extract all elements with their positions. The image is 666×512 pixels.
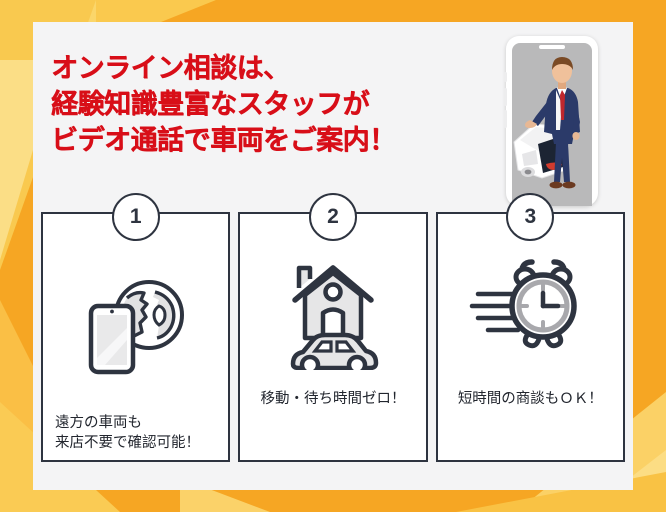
phone-screen [512,43,592,206]
card-spacer [240,416,425,460]
phone-button [504,72,507,82]
feature-card-2[interactable]: 2 [238,212,427,462]
card-caption-line: 来店不要で確認可能！ [55,433,218,454]
card-caption: 短時間の商談もＯＫ！ [438,389,623,416]
phone-notch [539,45,565,49]
card-number-badge: 3 [506,193,554,241]
page-title: オンライン相談は、 経験知識豊富なスタッフが ビデオ通話で車両をご案内！ [51,50,521,159]
phone-button [504,88,507,106]
card-caption: 遠方の車両も 来店不要で確認可能！ [43,413,228,460]
card-caption: 移動・待ち時間ゼロ！ [240,389,425,416]
feature-card-1[interactable]: 1 [41,212,230,462]
card-spacer [438,416,623,460]
feature-card-3[interactable]: 3 [436,212,625,462]
headline-line-1: オンライン相談は、 [51,50,521,86]
salesman-car-illustration [512,43,592,206]
headline-line-3: ビデオ通話で車両をご案内！ [51,122,521,158]
globe-smartphone-icon [43,214,228,413]
house-icon [295,268,371,338]
card-number-badge: 2 [309,193,357,241]
headline-line-2: 経験知識豊富なスタッフが [51,86,521,122]
smartphone-mockup [506,36,598,206]
card-caption-line: 短時間の商談もＯＫ！ [448,389,613,410]
promo-banner: オンライン相談は、 経験知識豊富なスタッフが ビデオ通話で車両をご案内！ [0,0,666,512]
phone-button [504,110,507,128]
content-panel: オンライン相談は、 経験知識豊富なスタッフが ビデオ通話で車両をご案内！ [33,22,633,490]
feature-cards: 1 [41,212,625,462]
card-number-badge: 1 [112,193,160,241]
card-caption-line: 移動・待ち時間ゼロ！ [250,389,415,410]
card-caption-line: 遠方の車両も [55,413,218,434]
